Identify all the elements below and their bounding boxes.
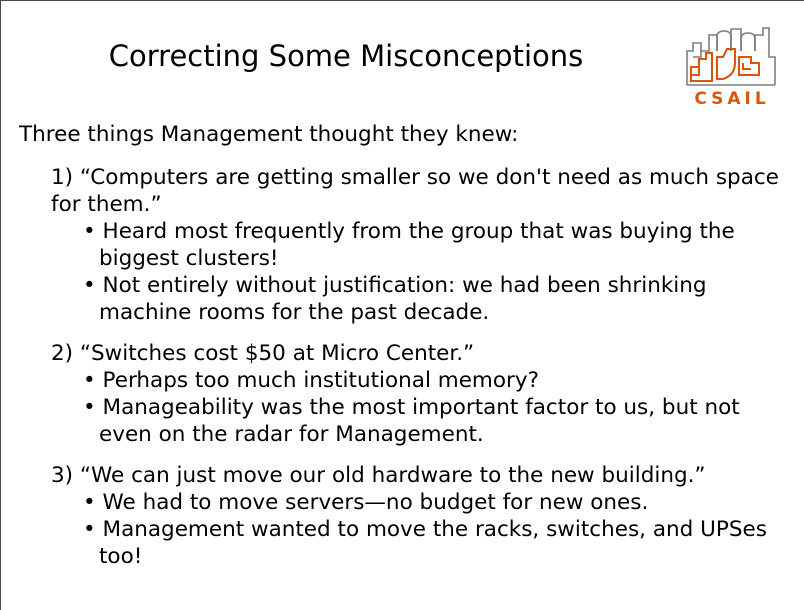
list-item: 2) “Switches cost $50 at Micro Center.” … [19, 340, 789, 448]
sublist-item: • We had to move servers—no budget for n… [83, 489, 789, 516]
bullet-icon: • [83, 273, 96, 298]
list-item: 1) “Computers are getting smaller so we … [19, 164, 789, 326]
bullet-icon: • [83, 517, 96, 542]
sublist-item-label: Management wanted to move the racks, swi… [99, 517, 767, 569]
sublist-item: • Not entirely without justification: we… [83, 272, 789, 326]
sublist-item-label: Manageability was the most important fac… [99, 395, 740, 447]
slide-canvas: Correcting Some Misconceptions CSAIL [0, 0, 804, 610]
bullet-icon: • [83, 368, 96, 393]
sublist-item: • Manageability was the most important f… [83, 394, 789, 448]
sublist: • Heard most frequently from the group t… [19, 218, 789, 326]
sublist-item-label: Heard most frequently from the group tha… [99, 219, 735, 271]
list-item-heading: 1) “Computers are getting smaller so we … [51, 164, 789, 218]
csail-logo: CSAIL [679, 23, 785, 115]
page-title: Correcting Some Misconceptions [1, 39, 691, 73]
sublist-item-label: Perhaps too much institutional memory? [103, 368, 539, 393]
bullet-icon: • [83, 219, 96, 244]
lead-text: Three things Management thought they kne… [19, 121, 789, 148]
list-item-heading: 2) “Switches cost $50 at Micro Center.” [51, 340, 789, 367]
list-item-heading: 3) “We can just move our old hardware to… [51, 462, 789, 489]
list-item: 3) “We can just move our old hardware to… [19, 462, 789, 570]
bullet-icon: • [83, 490, 96, 515]
sublist-item-label: Not entirely without justification: we h… [99, 273, 707, 325]
slide-body: Three things Management thought they kne… [19, 121, 789, 584]
sublist-item-label: We had to move servers—no budget for new… [103, 490, 649, 515]
bullet-icon: • [83, 395, 96, 420]
sublist: • We had to move servers—no budget for n… [19, 489, 789, 570]
csail-wordmark: CSAIL [679, 89, 785, 109]
sublist-item: • Management wanted to move the racks, s… [83, 516, 789, 570]
sublist: • Perhaps too much institutional memory?… [19, 367, 789, 448]
sublist-item: • Heard most frequently from the group t… [83, 218, 789, 272]
sublist-item: • Perhaps too much institutional memory? [83, 367, 789, 394]
numbered-list: 1) “Computers are getting smaller so we … [19, 164, 789, 570]
csail-skyline-icon [679, 23, 785, 93]
